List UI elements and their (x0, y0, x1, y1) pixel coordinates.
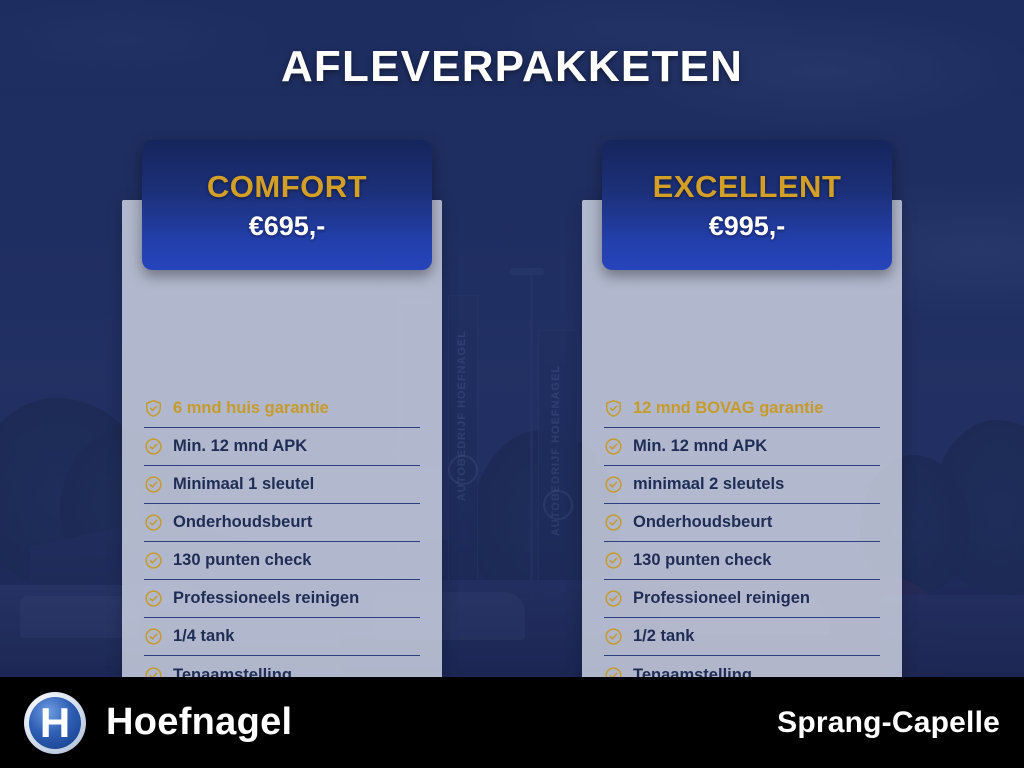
feature-row: Min. 12 mnd APK (604, 428, 880, 466)
feature-label: 12 mnd BOVAG garantie (633, 399, 823, 418)
circle-check-icon (604, 513, 623, 532)
logo-letter: H (24, 692, 86, 754)
circle-check-icon (604, 437, 623, 456)
location-name: Sprang-Capelle (777, 706, 1000, 740)
feature-label: minimaal 2 sleutels (633, 475, 784, 494)
feature-label: Professioneel reinigen (633, 589, 810, 608)
feature-label: Onderhoudsbeurt (173, 513, 312, 532)
footer-bar: H Hoefnagel Sprang-Capelle (0, 677, 1024, 768)
feature-row: minimaal 2 sleutels (604, 466, 880, 504)
feature-row: 130 punten check (604, 542, 880, 580)
shield-check-icon (604, 399, 623, 418)
feature-row: 1/2 tank (604, 618, 880, 656)
feature-label: Minimaal 1 sleutel (173, 475, 314, 494)
feature-row: Professioneel reinigen (604, 580, 880, 618)
feature-row: Professioneels reinigen (144, 580, 420, 618)
package-price: €695,- (249, 211, 326, 242)
package-columns: COMFORT €695,- 6 mnd huis garantie (0, 0, 1024, 768)
shield-check-icon (144, 399, 163, 418)
circle-check-icon (604, 475, 623, 494)
package-header-excellent: EXCELLENT €995,- (602, 140, 892, 270)
circle-check-icon (144, 437, 163, 456)
feature-label: Min. 12 mnd APK (633, 437, 767, 456)
feature-row: Onderhoudsbeurt (604, 504, 880, 542)
feature-row: Onderhoudsbeurt (144, 504, 420, 542)
package-name: EXCELLENT (653, 169, 842, 205)
feature-list-excellent: 12 mnd BOVAG garantie Min. 12 mnd APK (582, 200, 902, 694)
feature-row: 12 mnd BOVAG garantie (604, 390, 880, 428)
package-name: COMFORT (207, 169, 367, 205)
feature-label: Professioneels reinigen (173, 589, 359, 608)
hoefnagel-logo: H (24, 692, 86, 754)
circle-check-icon (144, 627, 163, 646)
feature-row: Minimaal 1 sleutel (144, 466, 420, 504)
feature-label: 1/2 tank (633, 627, 694, 646)
circle-check-icon (144, 475, 163, 494)
circle-check-icon (604, 551, 623, 570)
feature-label: 130 punten check (633, 551, 771, 570)
feature-label: Min. 12 mnd APK (173, 437, 307, 456)
feature-label: 1/4 tank (173, 627, 234, 646)
package-price: €995,- (709, 211, 786, 242)
feature-row: 1/4 tank (144, 618, 420, 656)
circle-check-icon (144, 589, 163, 608)
feature-row: Min. 12 mnd APK (144, 428, 420, 466)
feature-list-comfort: 6 mnd huis garantie Min. 12 mnd APK (122, 200, 442, 694)
circle-check-icon (604, 627, 623, 646)
feature-label: 130 punten check (173, 551, 311, 570)
circle-check-icon (144, 513, 163, 532)
feature-row: 6 mnd huis garantie (144, 390, 420, 428)
circle-check-icon (144, 551, 163, 570)
package-header-comfort: COMFORT €695,- (142, 140, 432, 270)
feature-label: 6 mnd huis garantie (173, 399, 329, 418)
circle-check-icon (604, 589, 623, 608)
brand-name: Hoefnagel (106, 701, 292, 744)
feature-row: 130 punten check (144, 542, 420, 580)
feature-label: Onderhoudsbeurt (633, 513, 772, 532)
promo-slide: AUTOBEDRIJF HOEFNAGEL AUTOBEDRIJF HOEFNA… (0, 0, 1024, 768)
